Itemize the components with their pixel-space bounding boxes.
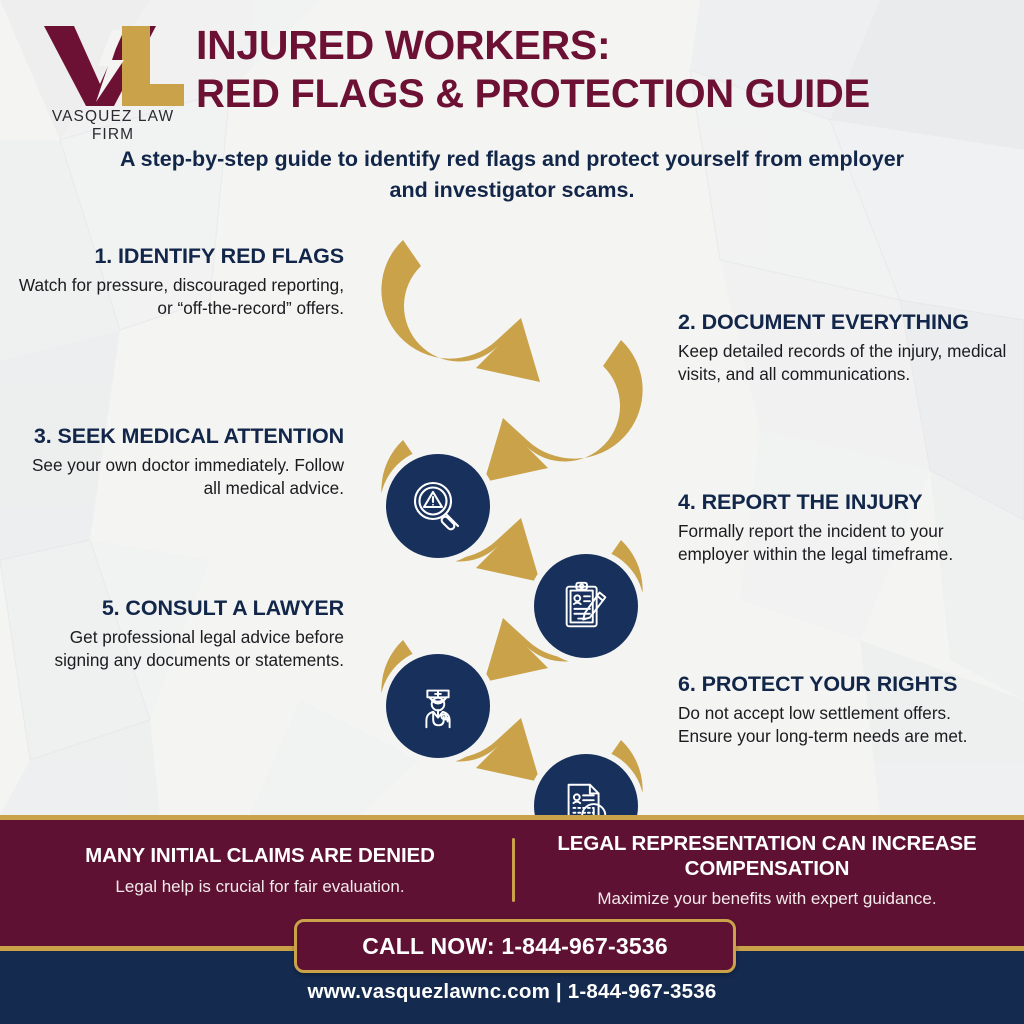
step-heading: 6. PROTECT YOUR RIGHTS bbox=[678, 672, 1008, 697]
clipboard-pencil-icon bbox=[557, 577, 615, 635]
vl-monogram-lightning-icon bbox=[38, 22, 188, 106]
step-block-5: 5. CONSULT A LAWYER Get professional leg… bbox=[14, 596, 344, 672]
call-now-label: CALL NOW: 1-844-967-3536 bbox=[362, 933, 668, 960]
step-body: Get professional legal advice before sig… bbox=[14, 626, 344, 672]
callout-divider bbox=[512, 838, 515, 902]
step-heading: 5. CONSULT A LAWYER bbox=[14, 596, 344, 621]
step-body: Do not accept low settlement offers. Ens… bbox=[678, 702, 1008, 748]
page-title: INJURED WORKERS: RED FLAGS & PROTECTION … bbox=[196, 20, 996, 119]
step-heading: 3. SEEK MEDICAL ATTENTION bbox=[14, 424, 344, 449]
callout-heading: MANY INITIAL CLAIMS ARE DENIED bbox=[30, 844, 490, 869]
step-heading: 2. DOCUMENT EVERYTHING bbox=[678, 310, 1008, 335]
callout-body: Legal help is crucial for fair evaluatio… bbox=[30, 876, 490, 898]
page-subtitle: A step-by-step guide to identify red fla… bbox=[112, 144, 912, 205]
step-heading: 4. REPORT THE INJURY bbox=[678, 490, 1008, 515]
step-block-4: 4. REPORT THE INJURY Formally report the… bbox=[678, 490, 1008, 566]
brand-logo: VASQUEZ LAW FIRM bbox=[28, 22, 198, 134]
step-heading: 1. IDENTIFY RED FLAGS bbox=[14, 244, 344, 269]
firm-name: VASQUEZ LAW FIRM bbox=[28, 108, 198, 144]
callout-body: Maximize your benefits with expert guida… bbox=[534, 888, 1000, 910]
call-now-button[interactable]: CALL NOW: 1-844-967-3536 bbox=[294, 919, 736, 973]
step-node-1[interactable] bbox=[386, 454, 490, 558]
doctor-stethoscope-icon bbox=[409, 677, 467, 735]
step-body: Watch for pressure, discouraged reportin… bbox=[14, 274, 344, 320]
footer-contact[interactable]: www.vasquezlawnc.com | 1-844-967-3536 bbox=[0, 980, 1024, 1004]
callout-1: MANY INITIAL CLAIMS ARE DENIED Legal hel… bbox=[30, 844, 490, 898]
callout-2: LEGAL REPRESENTATION CAN INCREASE COMPEN… bbox=[534, 832, 1000, 910]
step-block-1: 1. IDENTIFY RED FLAGS Watch for pressure… bbox=[14, 244, 344, 320]
step-body: Formally report the incident to your emp… bbox=[678, 520, 1008, 566]
magnifier-warning-icon bbox=[408, 476, 468, 536]
step-block-2: 2. DOCUMENT EVERYTHING Keep detailed rec… bbox=[678, 310, 1008, 386]
step-block-6: 6. PROTECT YOUR RIGHTS Do not accept low… bbox=[678, 672, 1008, 748]
step-node-3[interactable] bbox=[386, 654, 490, 758]
infographic-page: VASQUEZ LAW FIRM INJURED WORKERS: RED FL… bbox=[0, 0, 1024, 1024]
step-body: See your own doctor immediately. Follow … bbox=[14, 454, 344, 500]
title-line-1: INJURED WORKERS: bbox=[196, 20, 996, 70]
steps-flow: 1. IDENTIFY RED FLAGS Watch for pressure… bbox=[0, 222, 1024, 818]
step-body: Keep detailed records of the injury, med… bbox=[678, 340, 1008, 386]
step-node-2[interactable] bbox=[534, 554, 638, 658]
step-block-3: 3. SEEK MEDICAL ATTENTION See your own d… bbox=[14, 424, 344, 500]
callout-heading: LEGAL REPRESENTATION CAN INCREASE COMPEN… bbox=[534, 832, 1000, 881]
title-line-2: RED FLAGS & PROTECTION GUIDE bbox=[196, 70, 996, 119]
header: VASQUEZ LAW FIRM INJURED WORKERS: RED FL… bbox=[0, 0, 1024, 140]
